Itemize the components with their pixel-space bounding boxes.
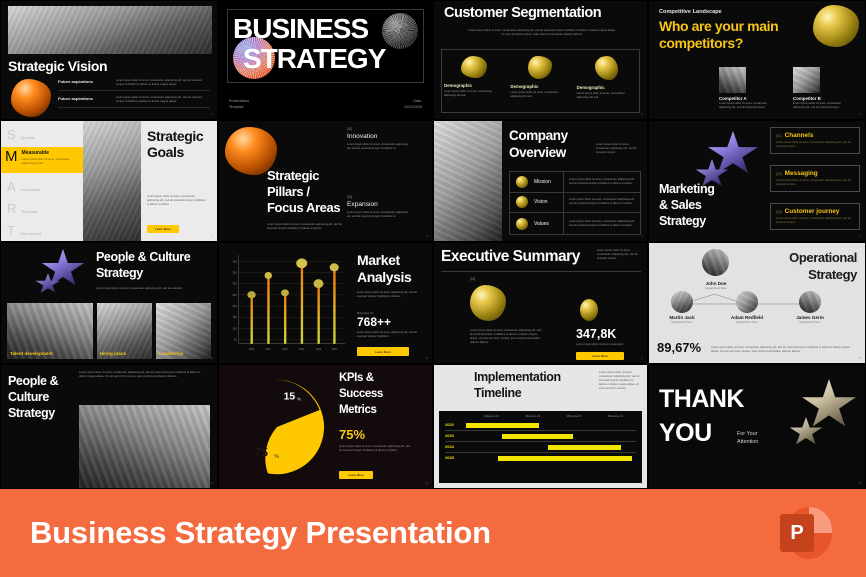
learn-more-label: Learn More: [155, 227, 171, 231]
row-body: Lorem ipsum dolor sit amet, consectetur …: [564, 178, 640, 186]
card-number: [02]: [776, 172, 782, 176]
powerpoint-icon: P: [776, 505, 832, 561]
row-body: Lorem ipsum dolor sit amet, consectetur …: [564, 198, 640, 206]
gantt-row-label: 2024: [445, 444, 454, 449]
card-body: Lorem ipsum dolor sit amet, consectetur …: [776, 141, 854, 149]
competitor-photo: [719, 67, 746, 93]
pillar-label: Innovation: [347, 133, 427, 140]
gold-blob-shape: [516, 196, 528, 208]
svg-text:200: 200: [232, 304, 237, 308]
beige-star-shape: [801, 379, 857, 431]
row-body: Lorem ipsum dolor sit amet, consectetur …: [564, 220, 640, 228]
market-analysis-bar-chart: 50100150 200250300 350400: [221, 247, 349, 361]
slide-thank-you[interactable]: THANK YOU For Your Attention 16: [648, 364, 866, 489]
learn-more-button[interactable]: Learn More: [339, 471, 373, 479]
title-line-1: People &: [8, 375, 58, 388]
gantt-column-header: Milestone 02: [512, 415, 553, 418]
stat-value: 89,67%: [657, 340, 701, 355]
title-line-1: Company: [509, 129, 568, 143]
page-title: Executive Summary: [441, 249, 580, 265]
list-item-body: Lorem ipsum dolor sit amet, consectetur …: [116, 96, 210, 104]
list-item[interactable]: Future aspirations Lorem ipsum dolor sit…: [58, 91, 210, 108]
avatar[interactable]: [671, 291, 693, 313]
gantt-row-label: 2022: [445, 422, 454, 427]
segment-label: Demographic: [510, 84, 570, 89]
stat-value: 347,8K: [576, 327, 616, 341]
avatar[interactable]: [799, 291, 821, 313]
slide-page-number: 1: [212, 113, 213, 116]
slide-page-number: 12: [858, 357, 861, 360]
slide-eyebrow: Competitive Landscape: [659, 9, 722, 15]
svg-text:50: 50: [234, 338, 237, 342]
segment-body: Lorem ipsum dolor sit amet, consectetur …: [510, 91, 570, 99]
gold-blob-shape: [516, 218, 528, 230]
slide-market-analysis[interactable]: 50100150 200250300 350400: [218, 242, 433, 364]
svg-text:100: 100: [232, 326, 237, 330]
title-line-1: People & Culture: [96, 251, 190, 264]
page-title: Strategic Vision: [8, 59, 107, 73]
slide-page-number: 14: [425, 482, 428, 485]
slide-page-number: 5: [642, 113, 643, 116]
row-label: Values: [534, 213, 564, 234]
title-line-1: Strategic: [267, 169, 319, 182]
title-line-2: Goals: [147, 145, 184, 159]
pillar-body: Lorem ipsum dolor sit amet, consectetur …: [347, 143, 409, 151]
pillar-number: [01]: [347, 127, 427, 131]
learn-more-label: Learn More: [348, 473, 364, 477]
slide-page-number: 3: [642, 235, 643, 238]
smart-label: Measurable: [22, 150, 80, 156]
presentation-label: Presentation: [229, 99, 249, 104]
culture-caption: Hiring plans: [100, 351, 127, 356]
title-line-2: YOU: [659, 421, 712, 447]
slide-customer-segmentation[interactable]: Customer Segmentation Lorem ipsum dolor …: [433, 0, 648, 120]
title-line-3: Strategy: [8, 407, 55, 420]
gantt-row[interactable]: 2022: [445, 420, 636, 431]
slide-page-number: 10: [210, 357, 213, 360]
learn-more-button[interactable]: Learn More: [357, 347, 409, 356]
smart-letter: S: [7, 127, 16, 142]
kpi-pie-chart: 15 % 75 %: [225, 371, 329, 483]
card-label: Messaging: [785, 170, 818, 177]
slide-page-number: 11: [426, 357, 428, 360]
card-body: Lorem ipsum dolor sit amet, consectetur …: [776, 179, 854, 187]
smart-body: Lorem ipsum dolor sit amet, consectetur …: [22, 158, 80, 166]
gold-blob-shape: [461, 56, 487, 78]
competitor-photo: [793, 67, 820, 93]
list-item-label: Future aspirations: [58, 96, 110, 104]
segment-body: Lorem ipsum dolor sit amet, consectetur …: [444, 90, 504, 98]
smart-row-m[interactable]: M Measurable Lorem ipsum dolor sit amet,…: [1, 147, 83, 173]
person-role: Department here: [719, 320, 775, 324]
slide-implementation-timeline[interactable]: Implementation Timeline Lorem ipsum dolo…: [433, 364, 648, 489]
subtitle-line-2: Attention: [737, 439, 758, 447]
slide-grid: Strategic Vision Future aspirations Lore…: [0, 0, 866, 489]
slide-page-number: 8: [427, 235, 428, 238]
gold-blob-shape: [813, 5, 859, 47]
title-line-1: Marketing: [659, 183, 714, 196]
competitor-label: Competitor A: [719, 96, 779, 101]
gold-blob-shape: [516, 176, 528, 188]
gantt-column-header: Milestone 04: [595, 415, 636, 418]
slide-strategic-pillars[interactable]: Strategic Pillars / Focus Areas Lorem ip…: [218, 120, 433, 242]
competitor-body: Lorem ipsum dolor sit amet, consectetur …: [719, 102, 771, 110]
smart-row-r[interactable]: R Relevant: [7, 201, 37, 216]
learn-more-label: Learn More: [592, 354, 608, 358]
pillar-label: Expansion: [347, 201, 427, 208]
smart-letter: R: [7, 201, 16, 216]
slide-competitive-landscape[interactable]: Competitive Landscape Who are your main …: [648, 0, 866, 120]
culture-card[interactable]: Talent development: [7, 303, 93, 359]
learn-more-button[interactable]: Learn More: [147, 225, 179, 233]
title-line-2: Timeline: [474, 387, 521, 400]
competitor-body: Lorem ipsum dolor sit amet, consectetur …: [793, 102, 845, 110]
smart-label: Time bound: [20, 231, 41, 236]
gantt-bar: [498, 456, 632, 461]
title-line-2: Overview: [509, 146, 566, 160]
slide-page-number: 9: [860, 235, 861, 238]
smart-row-t[interactable]: T Time bound: [7, 223, 41, 238]
gantt-column-header: Milestone 03: [554, 415, 595, 418]
title-line-1: BUSINESS: [233, 15, 368, 44]
table-row[interactable]: Values Lorem ipsum dolor sit amet, conse…: [510, 213, 640, 234]
slide-body: Lorem ipsum dolor sit amet, consectetur …: [267, 223, 349, 231]
smart-letter: A: [7, 179, 16, 194]
title-line-2: Strategy: [96, 267, 143, 280]
culture-card[interactable]: Leadership: [156, 303, 211, 359]
gantt-chart: Milestone 01 Milestone 02 Milestone 03 M…: [439, 411, 642, 483]
gantt-row[interactable]: 2025: [445, 453, 636, 464]
competitor-card[interactable]: Competitor B Lorem ipsum dolor sit amet,…: [793, 67, 853, 110]
smart-letter: T: [7, 223, 15, 238]
table-row[interactable]: Vision Lorem ipsum dolor sit amet, conse…: [510, 193, 640, 214]
culture-caption: Leadership: [159, 351, 184, 356]
slide-photo: [8, 6, 212, 54]
person-role: Department here: [783, 320, 837, 324]
svg-text:2022: 2022: [282, 348, 288, 351]
slide-kpis-success-metrics[interactable]: 15 % 75 % KPIs & Success Metrics 75% Lor…: [218, 364, 433, 489]
slide-body: Lorem ipsum dolor sit amet, consectetur …: [79, 371, 205, 379]
table-row[interactable]: Mission Lorem ipsum dolor sit amet, cons…: [510, 172, 640, 193]
segment-label: Demographic: [444, 83, 504, 88]
card-number: [01]: [776, 134, 782, 138]
title-line-1: Strategic: [147, 129, 203, 143]
pillar-number: [02]: [347, 195, 427, 199]
gantt-row[interactable]: 2024: [445, 442, 636, 453]
slide-page-number: 2: [642, 357, 643, 360]
person-role: Department here: [657, 320, 707, 324]
gantt-bar: [466, 423, 539, 428]
competitor-card[interactable]: Competitor A Lorem ipsum dolor sit amet,…: [719, 67, 779, 110]
title-line-2: Culture: [8, 391, 49, 404]
slide-photo: [83, 121, 141, 242]
dark-sphere-shape: [382, 13, 418, 49]
competitor-label: Competitor B: [793, 96, 853, 101]
slide-operational-strategy[interactable]: Operational Strategy John Doe Department…: [648, 242, 866, 364]
title-line-1: Market: [357, 253, 400, 267]
smart-label: Achievable: [21, 187, 41, 192]
powerpoint-letter: P: [780, 514, 814, 552]
card-body: Lorem ipsum dolor sit amet, consectetur …: [776, 217, 854, 225]
svg-text:2024: 2024: [316, 348, 322, 351]
list-item-body: Lorem ipsum dolor sit amet, consectetur …: [116, 79, 210, 87]
list-item[interactable]: Future aspirations Lorem ipsum dolor sit…: [58, 79, 210, 91]
pillar-item[interactable]: [02] Expansion Lorem ipsum dolor sit ame…: [347, 195, 427, 219]
svg-text:300: 300: [232, 282, 237, 286]
pillar-item[interactable]: [01] Innovation Lorem ipsum dolor sit am…: [347, 127, 427, 151]
gantt-row[interactable]: 2023: [445, 431, 636, 442]
footer-banner: Business Strategy Presentation P: [0, 489, 866, 577]
slide-executive-summary[interactable]: Executive Summary Lorem ipsum dolor sit …: [433, 242, 648, 364]
title-line-1: Implementation: [474, 371, 561, 384]
svg-text:15: 15: [284, 392, 296, 403]
row-label: Mission: [534, 172, 564, 192]
smart-row-s[interactable]: S Specific: [7, 127, 35, 142]
gold-blob-shape: [528, 56, 552, 79]
page-title: Customer Segmentation: [444, 6, 601, 21]
title-line-2: STRATEGY: [243, 45, 385, 74]
card-label: Channels: [785, 132, 814, 139]
slide-marketing-sales-strategy[interactable]: Marketing & Sales Strategy [01] Channels…: [648, 120, 866, 242]
title-line-2: competitors?: [659, 36, 743, 50]
row-label: Vision: [534, 193, 564, 213]
culture-card[interactable]: Hiring plans: [97, 303, 152, 359]
title-line-3: Focus Areas: [267, 201, 340, 214]
gantt-row-label: 2025: [445, 455, 454, 460]
svg-text:75: 75: [254, 445, 268, 459]
stat-value: 75%: [339, 427, 365, 442]
gold-blob-shape: [595, 56, 618, 80]
svg-text:2020: 2020: [249, 348, 255, 351]
slide-body: Lorem ipsum dolor sit amet, adipiscing e…: [357, 291, 423, 299]
slide-subtitle: Lorem ipsum dolor sit amet, consectetur …: [468, 29, 616, 37]
smart-label: Relevant: [21, 209, 37, 214]
svg-text:2021: 2021: [266, 348, 272, 351]
segment-label: Demographic: [577, 85, 637, 90]
title-line-2: Success: [339, 389, 383, 401]
svg-text:2023: 2023: [299, 348, 305, 351]
gantt-bar: [548, 445, 621, 450]
slide-page-number: 13: [210, 482, 213, 485]
slide-strategic-vision[interactable]: Strategic Vision Future aspirations Lore…: [0, 0, 218, 120]
avatar[interactable]: [736, 291, 758, 313]
card-label: Customer journey: [785, 208, 840, 215]
smart-label: Specific: [21, 135, 35, 140]
avatar[interactable]: [702, 249, 729, 276]
footer-title: Business Strategy Presentation: [30, 515, 491, 551]
smart-row-a[interactable]: A Achievable: [7, 179, 40, 194]
section-number: [01]: [470, 277, 475, 281]
slide-people-culture-cover[interactable]: People & Culture Strategy Lorem ipsum do…: [0, 364, 218, 489]
card-number: [03]: [776, 210, 782, 214]
slide-page-number: 15: [640, 482, 643, 485]
slide-company-overview[interactable]: Company Overview Lorem ipsum dolor sit a…: [433, 120, 648, 242]
gantt-bar: [502, 434, 573, 439]
title-line-2: Analysis: [357, 270, 411, 284]
stat-value: 768++: [357, 315, 391, 329]
title-line-1: Who are your main: [659, 19, 778, 33]
slide-page-number: 6: [860, 113, 861, 116]
presentation-preview-page: Strategic Vision Future aspirations Lore…: [0, 0, 866, 577]
list-item-label: Future aspirations: [58, 79, 110, 87]
learn-more-button[interactable]: Learn More: [576, 352, 624, 360]
gold-blob-shape: [11, 79, 51, 117]
slide-body: Lorem ipsum dolor sit amet, consectetur …: [470, 329, 544, 345]
slide-title[interactable]: BUSINESS STRATEGY Presentation Template …: [218, 0, 433, 120]
gold-blob-shape: [470, 285, 506, 321]
title-line-1: THANK: [659, 387, 744, 413]
learn-more-label: Learn More: [375, 350, 391, 354]
subtitle-line-1: For Your: [737, 431, 758, 439]
person-role: Department here: [689, 286, 743, 290]
slide-strategic-goals[interactable]: S Specific M Measurable Lorem ipsum dolo…: [0, 120, 218, 242]
culture-caption: Talent development: [10, 351, 53, 356]
slide-subtitle: Lorem ipsum dolor sit amet, consectetur …: [599, 371, 641, 391]
slide-subtitle: Lorem ipsum dolor sit amet, consectetur …: [597, 249, 641, 261]
stat-body: Lorem ipsum dolor sit amet consectetur.: [576, 343, 636, 347]
svg-text:400: 400: [232, 259, 237, 263]
slide-page-number: 7: [212, 235, 213, 238]
svg-text:150: 150: [232, 315, 237, 319]
slide-body: Lorem ipsum dolor sit amet, consectetur …: [147, 195, 207, 207]
gold-ring-shape: [580, 299, 598, 321]
strategy-card[interactable]: [03] Customer journey Lorem ipsum dolor …: [770, 203, 860, 230]
slide-subtitle: Lorem ipsum dolor sit amet, consectetur …: [596, 143, 640, 155]
slide-subtitle: Lorem ipsum dolor sit amet, consectetur …: [96, 287, 196, 291]
title-line-3: Strategy: [659, 215, 706, 228]
slide-people-culture-strategy[interactable]: People & Culture Strategy Lorem ipsum do…: [0, 242, 218, 364]
strategy-card[interactable]: [01] Channels Lorem ipsum dolor sit amet…: [770, 127, 860, 154]
segment-body: Lorem ipsum dolor sit amet, consectetur …: [577, 92, 637, 100]
segment-column[interactable]: Demographic Lorem ipsum dolor sit amet, …: [577, 53, 637, 100]
slide-body: Lorem ipsum dolor sit amet, consectetur …: [339, 445, 411, 453]
segment-column[interactable]: Demographic Lorem ipsum dolor sit amet, …: [444, 53, 504, 100]
pillar-body: Lorem ipsum dolor sit amet, consectetur …: [347, 211, 409, 219]
date-value: 24/12/2025: [404, 105, 422, 110]
svg-text:2025: 2025: [332, 348, 338, 351]
stat-body: Lorem ipsum dolor sit amet, adipiscing e…: [357, 331, 421, 339]
svg-text:%: %: [274, 454, 279, 460]
title-line-2: & Sales: [659, 199, 701, 212]
svg-text:350: 350: [232, 270, 237, 274]
title-line-1: KPIs &: [339, 373, 374, 385]
slide-body: Lorem ipsum dolor sit amet, consectetur …: [711, 346, 853, 354]
segment-column[interactable]: Demographic Lorem ipsum dolor sit amet, …: [510, 53, 570, 100]
slide-photo: [79, 405, 210, 488]
slide-photo: [434, 121, 502, 242]
svg-text:250: 250: [232, 293, 237, 297]
template-label: Template: [229, 105, 249, 110]
smart-letter: M: [5, 150, 18, 164]
strategy-card[interactable]: [02] Messaging Lorem ipsum dolor sit ame…: [770, 165, 860, 192]
title-line-3: Metrics: [339, 405, 376, 417]
slide-page-number: 16: [858, 482, 861, 485]
title-line-2: Pillars /: [267, 185, 310, 198]
gantt-row-label: 2023: [445, 433, 454, 438]
gantt-column-header: Milestone 01: [471, 415, 512, 418]
